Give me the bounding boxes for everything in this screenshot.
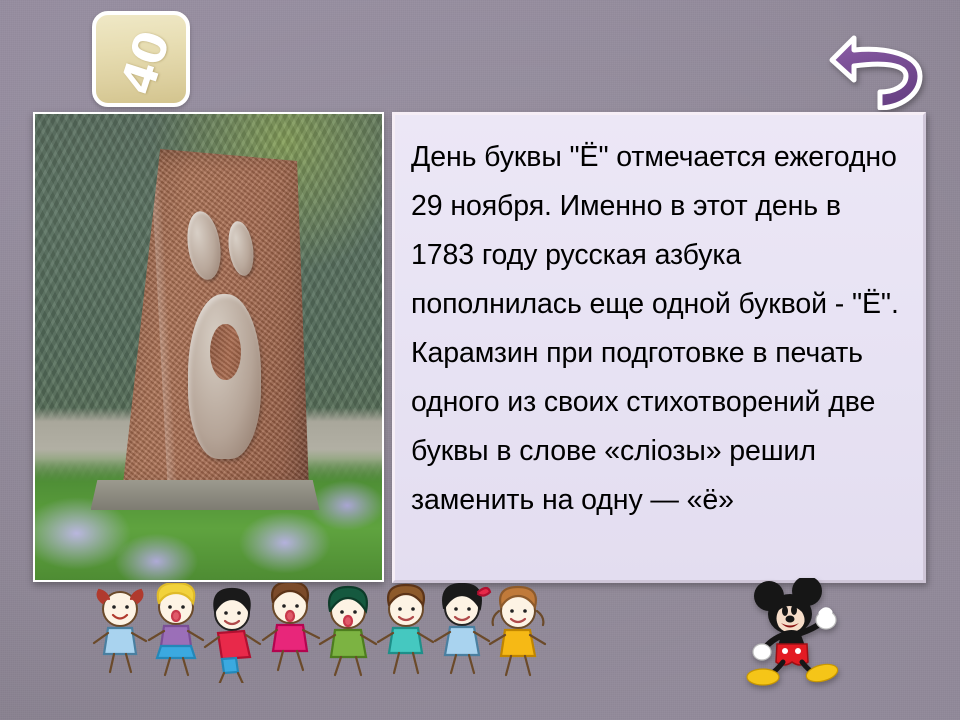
slide-canvas: 40 День буквы "Ё" отмеч	[0, 0, 960, 720]
back-arrow-icon[interactable]	[824, 22, 934, 110]
slide-number-badge: 40	[92, 11, 190, 107]
letter-yo-dot-left	[184, 209, 225, 282]
mickey-mouse-icon	[735, 578, 865, 690]
monument-photo	[33, 112, 384, 582]
letter-yo-counter	[210, 324, 240, 380]
monument-edge-highlight	[150, 149, 177, 494]
monument-plinth	[91, 480, 320, 510]
letter-yo-dot-right	[225, 220, 257, 278]
letter-yo-body	[188, 294, 260, 460]
children-holding-hands-icon	[86, 583, 556, 683]
photo-background	[35, 114, 382, 580]
granite-monument	[108, 149, 309, 494]
body-text: День буквы "Ё" отмечается ежегодно 29 но…	[411, 133, 907, 525]
text-panel: День буквы "Ё" отмечается ежегодно 29 но…	[392, 112, 926, 583]
slide-number-label: 40	[92, 11, 190, 107]
